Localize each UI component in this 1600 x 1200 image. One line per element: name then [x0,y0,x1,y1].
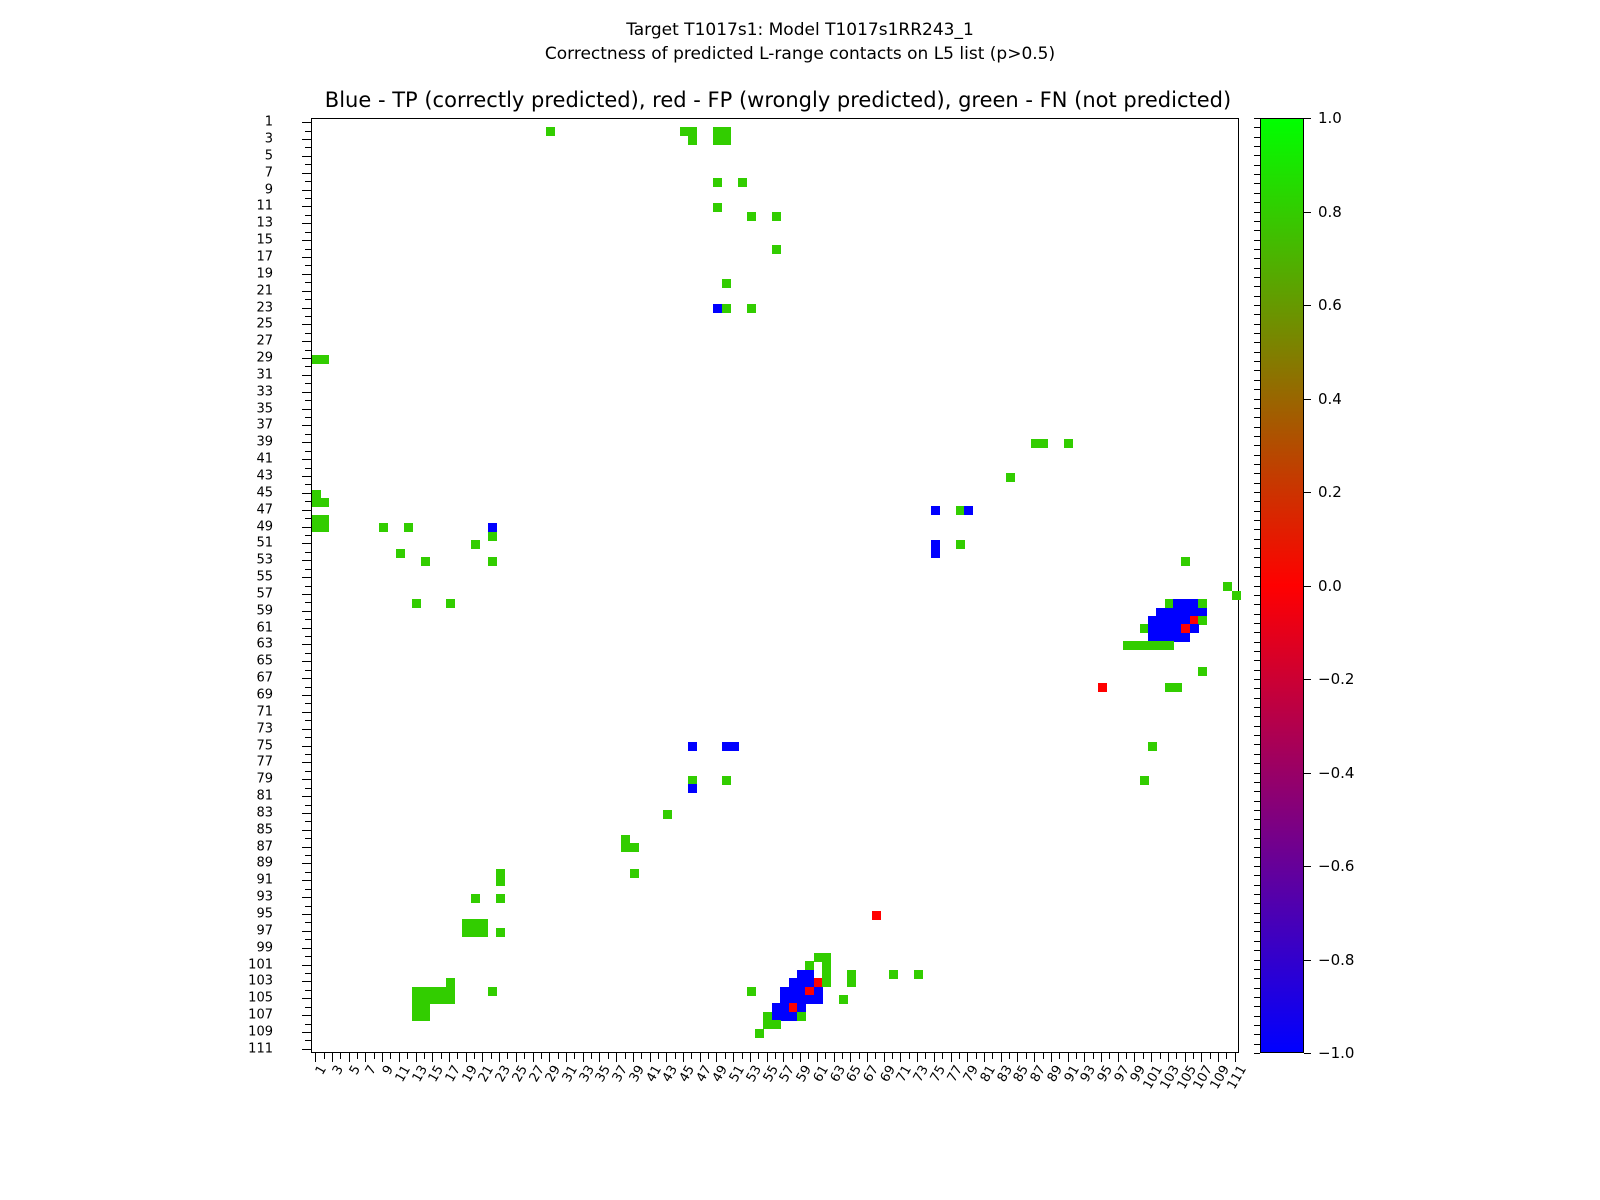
colorbar-minor-tick [1254,894,1260,895]
y-tick-mark [302,375,311,376]
heatmap-cell [1039,439,1048,448]
colorbar-minor-tick [1254,810,1260,811]
y-tick-mark [302,223,311,224]
heatmap-cell [847,978,856,987]
y-tick-mark [302,560,311,561]
colorbar-minor-tick [1254,651,1260,652]
colorbar-tick-label: 0.0 [1318,577,1342,595]
heatmap-cell [797,1012,806,1021]
heatmap-cell [747,987,756,996]
heatmap-cell [379,523,388,532]
contact-map-heatmap[interactable] [311,118,1239,1053]
colorbar-tick-label: −0.6 [1318,857,1354,875]
heatmap-cell [688,784,697,793]
colorbar-minor-tick [1254,174,1260,175]
colorbar-minor-tick [1254,735,1260,736]
heatmap-cell [931,506,940,515]
suptitle-line-2: Correctness of predicted L-range contact… [0,42,1600,66]
colorbar-minor-tick [1254,202,1260,203]
heatmap-cell [1173,683,1182,692]
y-tick-mark [302,611,311,612]
colorbar-tick-mark [1304,679,1311,680]
heatmap-cell [1148,742,1157,751]
colorbar-minor-tick [1254,614,1260,615]
colorbar-minor-tick [1254,277,1260,278]
y-tick-mark [302,1032,311,1033]
colorbar-tick-mark [1304,399,1311,400]
colorbar-minor-tick [1254,492,1260,493]
y-tick-mark [302,897,311,898]
colorbar-minor-tick [1254,754,1260,755]
y-tick-mark [302,796,311,797]
y-tick-mark [302,577,311,578]
colorbar-minor-tick [1254,1006,1260,1007]
colorbar-minor-tick [1254,707,1260,708]
colorbar-minor-tick [1254,875,1260,876]
heatmap-cell [713,203,722,212]
colorbar-minor-tick [1254,567,1260,568]
colorbar-minor-tick [1254,576,1260,577]
heatmap-cell [1181,633,1190,642]
colorbar-minor-tick [1254,801,1260,802]
y-tick-mark [302,863,311,864]
y-tick-mark [302,527,311,528]
colorbar-minor-tick [1254,333,1260,334]
colorbar-tick-label: −1.0 [1318,1044,1354,1062]
y-tick-mark [302,139,311,140]
heatmap-cell [1198,667,1207,676]
colorbar-minor-tick [1254,978,1260,979]
y-tick-mark [302,206,311,207]
colorbar-minor-tick [1254,857,1260,858]
heatmap-cell [471,540,480,549]
colorbar-minor-tick [1254,296,1260,297]
colorbar-minor-tick [1254,632,1260,633]
y-tick-mark [302,695,311,696]
colorbar-minor-tick [1254,623,1260,624]
colorbar-minor-tick [1254,847,1260,848]
heatmap-cell [722,136,731,145]
heatmap-cell [956,540,965,549]
colorbar-minor-tick [1254,557,1260,558]
y-tick-mark [302,240,311,241]
y-tick-mark [302,661,311,662]
colorbar-minor-tick [1254,146,1260,147]
colorbar-minor-tick [1254,763,1260,764]
heatmap-cell [722,279,731,288]
colorbar-minor-tick [1254,604,1260,605]
y-tick-mark [302,190,311,191]
heatmap-cell [488,557,497,566]
colorbar-tick-mark [1304,212,1311,213]
colorbar-minor-tick [1254,595,1260,596]
colorbar-minor-tick [1254,773,1260,774]
y-tick-mark [302,493,311,494]
colorbar-minor-tick [1254,165,1260,166]
y-tick-mark [302,291,311,292]
y-tick-mark [302,341,311,342]
colorbar-minor-tick [1254,922,1260,923]
colorbar-minor-tick [1254,221,1260,222]
colorbar-tick-mark [1304,586,1311,587]
colorbar-minor-tick [1254,1034,1260,1035]
figure-suptitle: Target T1017s1: Model T1017s1RR243_1 Cor… [0,18,1600,66]
suptitle-line-1: Target T1017s1: Model T1017s1RR243_1 [0,18,1600,42]
heatmap-cell [688,742,697,751]
colorbar-tick-label: 0.8 [1318,203,1342,221]
colorbar-minor-tick [1254,352,1260,353]
colorbar-minor-tick [1254,1044,1260,1045]
heatmap-cell [446,995,455,1004]
y-tick-mark [302,746,311,747]
heatmap-cell [1232,591,1241,600]
colorbar-minor-tick [1254,212,1260,213]
heatmap-cell [421,1012,430,1021]
colorbar-minor-tick [1254,838,1260,839]
heatmap-cell [747,304,756,313]
colorbar-minor-tick [1254,183,1260,184]
heatmap-cell [496,877,505,886]
heatmap-cell [738,178,747,187]
colorbar-minor-tick [1254,137,1260,138]
colorbar-minor-tick [1254,688,1260,689]
colorbar-minor-tick [1254,903,1260,904]
y-tick-mark [302,880,311,881]
heatmap-cell [320,523,329,532]
y-tick-mark [302,358,311,359]
colorbar-minor-ticks [1248,118,1260,1053]
heatmap-cell [772,212,781,221]
heatmap-cell [630,843,639,852]
x-axis-tick-labels: 1357911131517192123252729313335373941434… [311,1053,1239,1133]
colorbar-minor-tick [1254,258,1260,259]
heatmap-cell [1064,439,1073,448]
y-tick-mark [302,830,311,831]
colorbar-minor-tick [1254,118,1260,119]
colorbar-minor-tick [1254,988,1260,989]
y-tick-mark [302,1049,311,1050]
colorbar-minor-tick [1254,744,1260,745]
y-tick-mark [302,813,311,814]
heatmap-cell [1006,473,1015,482]
y-tick-mark [302,931,311,932]
colorbar-tick-mark [1304,960,1311,961]
heatmap-cell [814,995,823,1004]
heatmap-cell [931,549,940,558]
colorbar-tick-label: 0.6 [1318,296,1342,314]
colorbar-minor-tick [1254,417,1260,418]
colorbar-minor-tick [1254,950,1260,951]
colorbar-minor-tick [1254,427,1260,428]
colorbar-minor-tick [1254,286,1260,287]
colorbar-minor-tick [1254,586,1260,587]
colorbar-minor-tick [1254,305,1260,306]
colorbar-minor-tick [1254,529,1260,530]
heatmap-cell [914,970,923,979]
heatmap-cell [421,557,430,566]
y-tick-mark [302,678,311,679]
colorbar-minor-tick [1254,455,1260,456]
y-tick-mark [302,156,311,157]
colorbar-tick-label: 0.2 [1318,483,1342,501]
colorbar-minor-tick [1254,941,1260,942]
colorbar-minor-tick [1254,660,1260,661]
heatmap-cell [1181,557,1190,566]
heatmap-cell [404,523,413,532]
colorbar-minor-tick [1254,445,1260,446]
colorbar-tick-mark [1304,492,1311,493]
colorbar-minor-tick [1254,520,1260,521]
y-tick-mark [302,324,311,325]
heatmap-cell [722,776,731,785]
y-tick-mark [302,644,311,645]
heatmap-cell [320,355,329,364]
heatmap-cell [872,911,881,920]
colorbar-minor-tick [1254,1025,1260,1026]
colorbar-minor-tick [1254,473,1260,474]
heatmap-cell [688,136,697,145]
colorbar-minor-tick [1254,464,1260,465]
colorbar-tick-label: −0.4 [1318,764,1354,782]
y-tick-mark [302,628,311,629]
y-tick-mark [302,543,311,544]
colorbar-tick-label: −0.8 [1318,951,1354,969]
colorbar-minor-tick [1254,819,1260,820]
y-tick-mark [302,779,311,780]
colorbar-minor-tick [1254,931,1260,932]
y-tick-mark [302,847,311,848]
colorbar-tick-mark [1304,773,1311,774]
heatmap-cell [496,894,505,903]
heatmap-cell [755,1029,764,1038]
colorbar-minor-tick [1254,1016,1260,1017]
y-tick-mark [302,914,311,915]
heatmap-cell [713,178,722,187]
colorbar-minor-tick [1254,511,1260,512]
colorbar-minor-tick [1254,969,1260,970]
colorbar-minor-tick [1254,997,1260,998]
y-tick-mark [302,1015,311,1016]
colorbar-minor-tick [1254,726,1260,727]
colorbar-minor-tick [1254,782,1260,783]
heatmap-cell [839,995,848,1004]
colorbar-tick-mark [1304,1053,1311,1054]
heatmap-cell [1140,776,1149,785]
colorbar-minor-tick [1254,389,1260,390]
colorbar-minor-tick [1254,240,1260,241]
heatmap-cell [488,532,497,541]
colorbar-minor-tick [1254,408,1260,409]
y-tick-mark [302,409,311,410]
heatmap-cell [446,599,455,608]
colorbar-minor-tick [1254,380,1260,381]
heatmap-cell [496,928,505,937]
colorbar-minor-tick [1254,436,1260,437]
heatmap-cells [312,119,1238,1052]
colorbar-minor-tick [1254,314,1260,315]
y-axis-tick-marks [0,118,311,1053]
colorbar-tick-label: 0.4 [1318,390,1342,408]
heatmap-cell [663,810,672,819]
y-tick-mark [302,510,311,511]
colorbar-minor-tick [1254,501,1260,502]
y-tick-mark [302,594,311,595]
colorbar-minor-tick [1254,193,1260,194]
y-tick-mark [302,274,311,275]
y-tick-mark [302,442,311,443]
heatmap-cell [889,970,898,979]
heatmap-cell [964,506,973,515]
y-tick-mark [302,122,311,123]
y-tick-mark [302,425,311,426]
heatmap-cell [412,599,421,608]
colorbar-minor-tick [1254,642,1260,643]
colorbar-minor-tick [1254,960,1260,961]
heatmap-cell [747,212,756,221]
y-tick-mark [302,392,311,393]
colorbar-tick-mark [1304,305,1311,306]
colorbar-minor-tick [1254,913,1260,914]
heatmap-cell [479,928,488,937]
y-tick-mark [302,173,311,174]
y-tick-mark [302,459,311,460]
heatmap-cell [546,127,555,136]
colorbar-tick-mark [1304,866,1311,867]
y-tick-mark [302,476,311,477]
colorbar-minor-tick [1254,791,1260,792]
heatmap-cell [730,742,739,751]
colorbar-minor-tick [1254,1053,1260,1054]
y-tick-mark [302,998,311,999]
y-tick-mark [302,712,311,713]
colorbar-minor-tick [1254,342,1260,343]
y-tick-mark [302,257,311,258]
colorbar-minor-tick [1254,127,1260,128]
y-tick-mark [302,308,311,309]
heatmap-cell [1198,616,1207,625]
y-tick-mark [302,981,311,982]
heatmap-cell [1165,641,1174,650]
colorbar-minor-tick [1254,539,1260,540]
y-tick-mark [302,729,311,730]
heatmap-cell [320,498,329,507]
colorbar-minor-tick [1254,548,1260,549]
y-tick-mark [302,762,311,763]
colorbar-minor-tick [1254,249,1260,250]
heatmap-cell [630,869,639,878]
colorbar-minor-tick [1254,829,1260,830]
colorbar-minor-tick [1254,670,1260,671]
colorbar-minor-tick [1254,230,1260,231]
colorbar-minor-tick [1254,866,1260,867]
heatmap-cell [471,894,480,903]
heatmap-cell [1190,624,1199,633]
colorbar-minor-tick [1254,324,1260,325]
heatmap-cell [772,245,781,254]
colorbar-minor-tick [1254,698,1260,699]
colorbar-minor-tick [1254,399,1260,400]
heatmap-cell [396,549,405,558]
y-tick-mark [302,965,311,966]
heatmap-cell [772,1020,781,1029]
heatmap-cell [822,978,831,987]
heatmap-cell [722,304,731,313]
colorbar-tick-label: −0.2 [1318,670,1354,688]
colorbar-tick-label: 1.0 [1318,109,1342,127]
colorbar-minor-tick [1254,679,1260,680]
heatmap-cell [320,515,329,524]
colorbar-minor-tick [1254,370,1260,371]
colorbar-minor-tick [1254,155,1260,156]
colorbar-tick-mark [1304,118,1311,119]
heatmap-cell [1098,683,1107,692]
colorbar-minor-tick [1254,268,1260,269]
colorbar-minor-tick [1254,483,1260,484]
colorbar-minor-tick [1254,716,1260,717]
colorbar-tick-labels: 1.00.80.60.40.20.0−0.2−0.4−0.6−0.8−1.0 [1304,118,1424,1053]
heatmap-cell [488,987,497,996]
colorbar-minor-tick [1254,361,1260,362]
colorbar-gradient [1260,118,1304,1053]
y-tick-mark [302,948,311,949]
colorbar-minor-tick [1254,885,1260,886]
